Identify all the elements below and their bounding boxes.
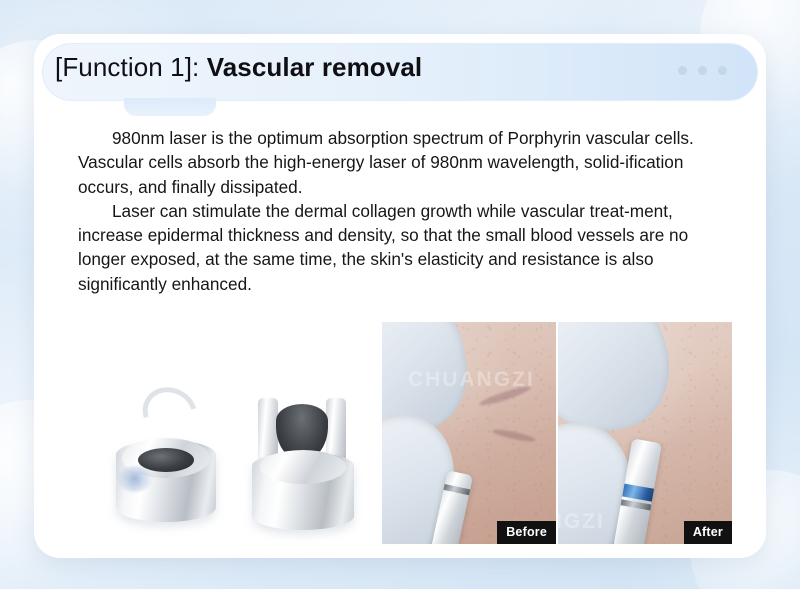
function-label: [Function 1]: xyxy=(55,52,199,82)
header-bar: [Function 1]: Vascular removal xyxy=(42,43,758,101)
tip-prong-left xyxy=(258,398,278,460)
menu-dot-icon xyxy=(678,66,687,75)
page-title: [Function 1]: Vascular removal xyxy=(55,52,422,83)
before-label: Before xyxy=(497,521,556,544)
slide-background: [Function 1]: Vascular removal 980nm las… xyxy=(0,0,800,589)
product-tips-group xyxy=(90,362,360,532)
before-after-photos: CHUANGZI Before CHUANGZI After xyxy=(382,322,732,544)
menu-dot-icon xyxy=(718,66,727,75)
handpiece-metal-ring xyxy=(621,499,652,510)
function-title: Vascular removal xyxy=(207,52,423,82)
laser-tip-round xyxy=(112,388,220,528)
tip-blue-reflection xyxy=(118,466,152,492)
handpiece-blue-ring xyxy=(622,484,654,502)
body-text: 980nm laser is the optimum absorption sp… xyxy=(78,126,730,296)
tip-prong-right xyxy=(326,398,346,460)
after-label: After xyxy=(684,521,732,544)
tip-top-ring xyxy=(260,450,346,484)
content-card: [Function 1]: Vascular removal 980nm las… xyxy=(34,34,766,558)
header-notch-decoration xyxy=(124,98,216,116)
menu-dot-icon xyxy=(698,66,707,75)
photo-before: CHUANGZI Before xyxy=(382,322,556,544)
handpiece-metal-ring xyxy=(443,484,470,495)
photo-after: CHUANGZI After xyxy=(558,322,732,544)
media-row: CHUANGZI Before CHUANGZI After xyxy=(72,322,732,542)
paragraph-2: Laser can stimulate the dermal collagen … xyxy=(78,199,730,296)
paragraph-1: 980nm laser is the optimum absorption sp… xyxy=(78,126,730,199)
laser-tip-fork xyxy=(248,398,358,530)
header-menu-dots[interactable] xyxy=(678,66,727,75)
